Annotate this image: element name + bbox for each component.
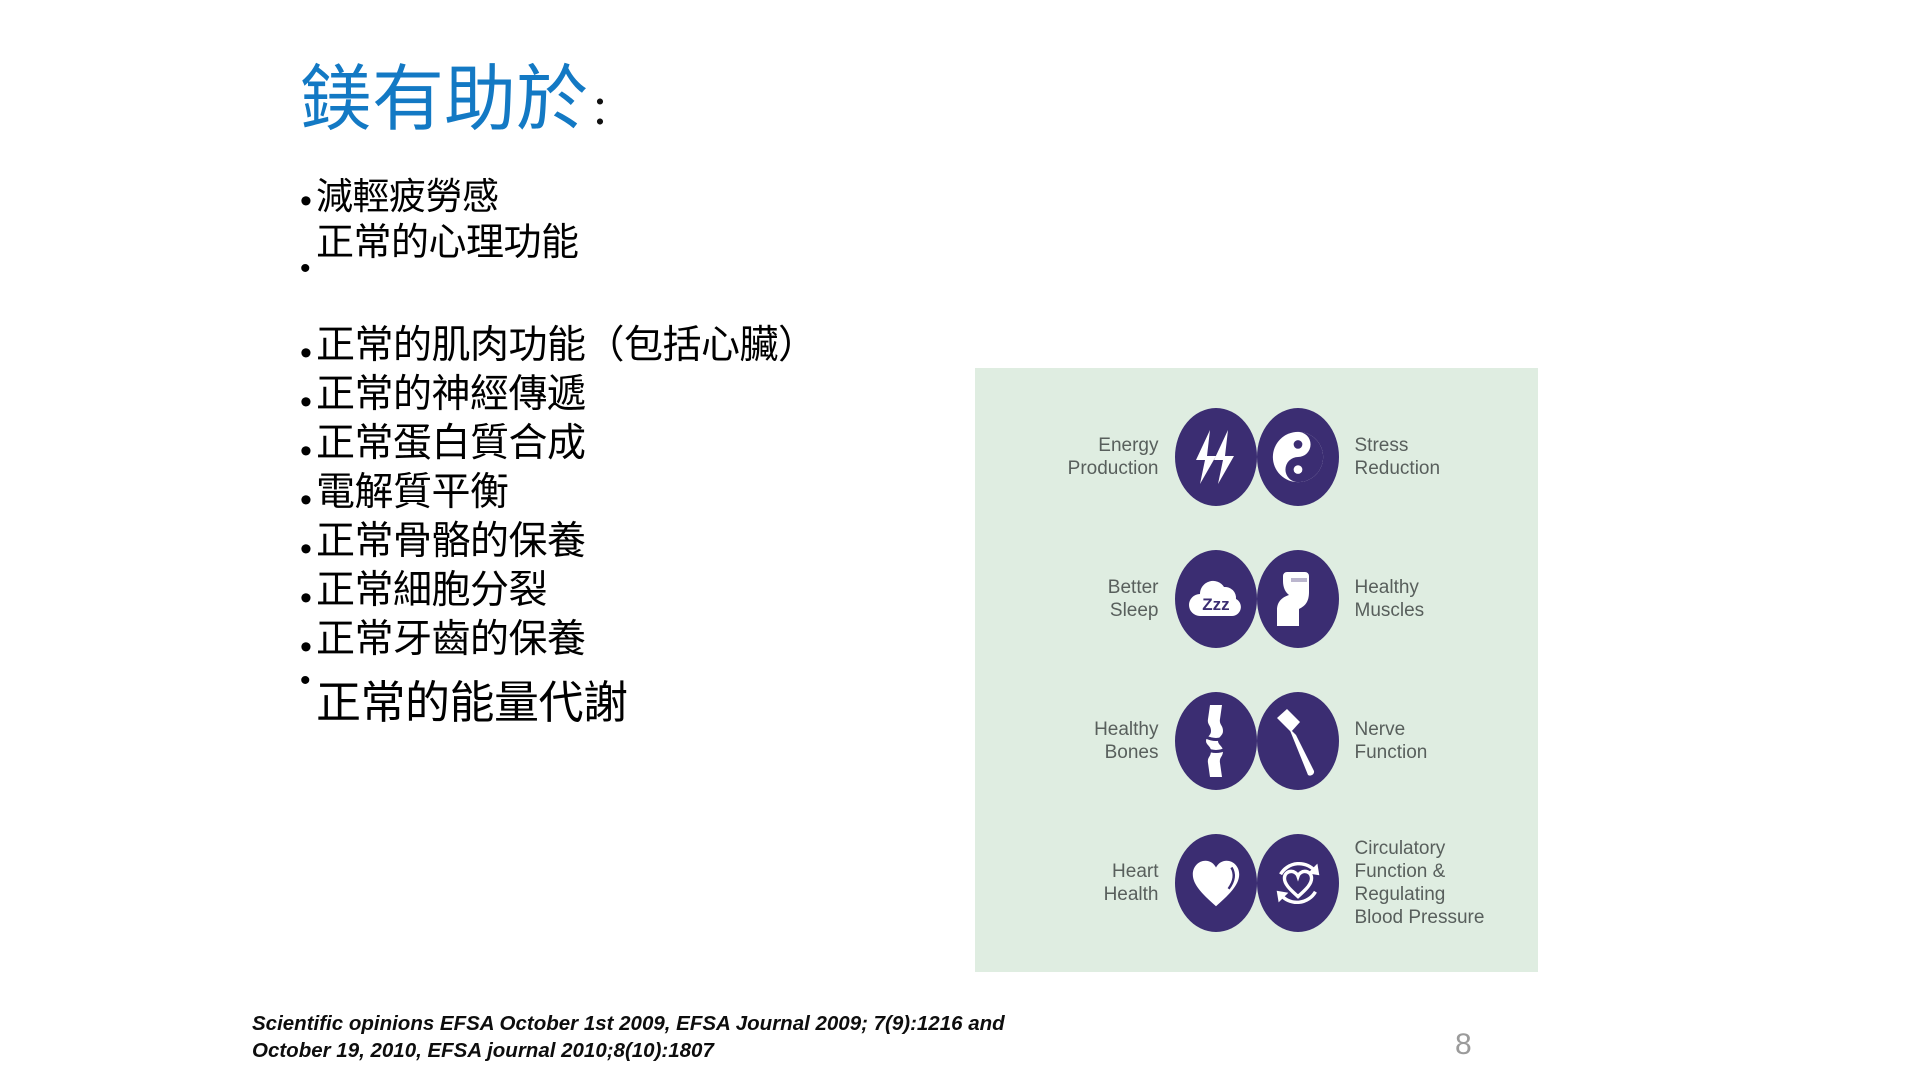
infographic-cell-healthy-bones: Healthy Bones xyxy=(989,692,1257,790)
list-item: • 正常的神經傳遞 xyxy=(300,375,920,419)
list-item-label: 正常的神經傳遞 xyxy=(316,375,586,414)
bullet-marker-icon: • xyxy=(300,224,316,284)
infographic-label-line: Circulatory xyxy=(1355,837,1485,860)
infographic-label: Healthy Muscles xyxy=(1339,576,1425,622)
infographic-label-line: Better xyxy=(1108,576,1159,599)
list-item-label: 正常蛋白質合成 xyxy=(316,424,586,463)
bullet-marker-icon: • xyxy=(300,473,316,517)
infographic-cell-better-sleep: Better Sleep Zzz xyxy=(989,550,1257,648)
list-item: • 正常牙齒的保養 xyxy=(300,620,920,664)
infographic-label-line: Blood Pressure xyxy=(1355,906,1485,929)
list-item-label: 正常的肌肉功能（包括心臟） xyxy=(316,326,817,365)
infographic-row: Better Sleep Zzz xyxy=(989,532,1524,667)
source-citation: Scientific opinions EFSA October 1st 200… xyxy=(252,1010,1152,1064)
bullet-marker-icon: • xyxy=(300,620,316,664)
infographic-label: Heart Health xyxy=(1104,860,1175,906)
citation-line-1: Scientific opinions EFSA October 1st 200… xyxy=(252,1010,1152,1037)
list-item-label: 正常骨骼的保養 xyxy=(316,522,586,561)
zzz-text: Zzz xyxy=(1202,595,1229,614)
list-item-label: 減輕疲勞感 xyxy=(316,178,499,215)
infographic-label-line: Function xyxy=(1355,741,1428,764)
reflex-hammer-icon xyxy=(1257,692,1339,790)
list-item-label: 電解質平衡 xyxy=(316,473,509,512)
benefits-bullet-list: • 減輕疲勞感 • 正常的心理功能 • 正常的肌肉功能（包括心臟） • 正常的神… xyxy=(300,178,920,725)
page-title-text: 鎂有助於 xyxy=(300,60,588,140)
page-title-colon: ： xyxy=(590,89,630,133)
list-item-label: 正常的心理功能 xyxy=(316,224,579,262)
infographic-cell-circulatory-function: Circulatory Function & Regulating Blood … xyxy=(1257,834,1525,932)
infographic-label: Stress Reduction xyxy=(1339,434,1441,480)
list-item: • 正常的心理功能 xyxy=(300,224,920,284)
page-number: 8 xyxy=(1455,1028,1472,1062)
infographic-label-line: Health xyxy=(1104,883,1159,906)
infographic-label: Nerve Function xyxy=(1339,718,1428,764)
infographic-cell-nerve-function: Nerve Function xyxy=(1257,692,1525,790)
bone-joint-icon xyxy=(1175,692,1257,790)
infographic-cell-healthy-muscles: Healthy Muscles xyxy=(1257,550,1525,648)
infographic-label-line: Stress xyxy=(1355,434,1441,457)
sleep-cloud-zzz-icon: Zzz xyxy=(1175,550,1257,648)
heart-circulation-arrows-icon xyxy=(1257,834,1339,932)
list-item: • 正常骨骼的保養 xyxy=(300,522,920,566)
lightning-bolt-icon xyxy=(1175,408,1257,506)
magnesium-benefits-infographic: Energy Production xyxy=(975,368,1538,972)
infographic-label: Energy Production xyxy=(1068,434,1175,480)
infographic-label: Circulatory Function & Regulating Blood … xyxy=(1339,837,1485,929)
infographic-label-line: Bones xyxy=(1094,741,1158,764)
bullet-marker-icon: • xyxy=(300,424,316,468)
infographic-cell-stress-reduction: Stress Reduction xyxy=(1257,408,1525,506)
yin-yang-icon xyxy=(1257,408,1339,506)
list-item: • 正常的肌肉功能（包括心臟） xyxy=(300,326,920,370)
infographic-cell-heart-health: Heart Health xyxy=(989,834,1257,932)
infographic-label-line: Reduction xyxy=(1355,457,1441,480)
page-title: 鎂有助於： xyxy=(300,62,630,138)
infographic-label: Healthy Bones xyxy=(1094,718,1174,764)
flexed-bicep-icon xyxy=(1257,550,1339,648)
infographic-row: Heart Health xyxy=(989,816,1524,951)
bullet-marker-icon: • xyxy=(300,178,316,218)
infographic-label-line: Muscles xyxy=(1355,599,1425,622)
infographic-label-line: Regulating xyxy=(1355,883,1485,906)
infographic-label-line: Sleep xyxy=(1108,599,1159,622)
bullet-marker-icon: • xyxy=(300,326,316,370)
list-item-label: 正常的能量代謝 xyxy=(316,666,628,725)
infographic-label: Better Sleep xyxy=(1108,576,1175,622)
citation-line-2: October 19, 2010, EFSA journal 2010;8(10… xyxy=(252,1037,1152,1064)
list-item-label: 正常牙齒的保養 xyxy=(316,620,586,659)
bullet-marker-icon: • xyxy=(300,522,316,566)
list-item: • 減輕疲勞感 xyxy=(300,178,920,218)
bullet-marker-icon: • xyxy=(300,666,316,696)
bullet-marker-icon: • xyxy=(300,375,316,419)
slide-canvas: 鎂有助於： • 減輕疲勞感 • 正常的心理功能 • 正常的肌肉功能（包括心臟） … xyxy=(0,0,1920,1080)
list-item: • 正常的能量代謝 xyxy=(300,666,920,725)
infographic-row: Healthy Bones Ne xyxy=(989,674,1524,809)
infographic-row: Energy Production xyxy=(989,390,1524,525)
infographic-label-line: Healthy xyxy=(1355,576,1425,599)
infographic-label-line: Production xyxy=(1068,457,1159,480)
infographic-cell-energy-production: Energy Production xyxy=(989,408,1257,506)
infographic-label-line: Healthy xyxy=(1094,718,1158,741)
list-item: • 電解質平衡 xyxy=(300,473,920,517)
infographic-label-line: Heart xyxy=(1104,860,1159,883)
infographic-label-line: Energy xyxy=(1068,434,1159,457)
bullet-marker-icon: • xyxy=(300,571,316,615)
heart-icon xyxy=(1175,834,1257,932)
list-item: • 正常細胞分裂 xyxy=(300,571,920,615)
infographic-label-line: Nerve xyxy=(1355,718,1428,741)
list-item: • 正常蛋白質合成 xyxy=(300,424,920,468)
infographic-label-line: Function & xyxy=(1355,860,1485,883)
list-item-label: 正常細胞分裂 xyxy=(316,571,547,610)
